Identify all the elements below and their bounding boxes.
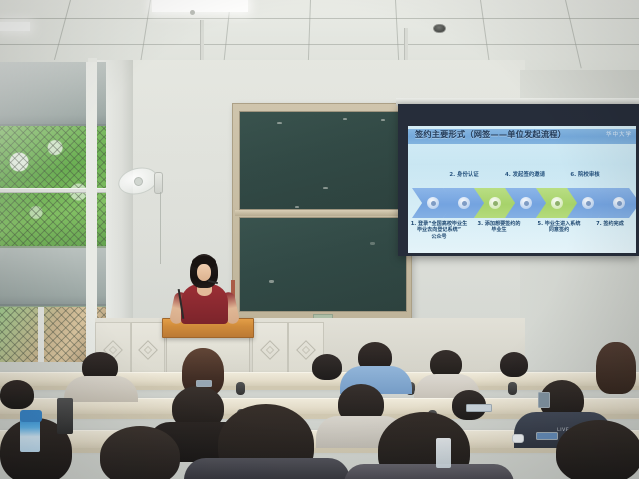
slide-step-label-3: 3. 添加想要签约的 毕业生 — [470, 221, 528, 234]
smartphone[interactable] — [466, 404, 492, 412]
thermos-bottle[interactable] — [57, 398, 73, 434]
thermos-bottle[interactable] — [20, 410, 42, 422]
slide-label-line: 同意签约 — [530, 227, 588, 233]
wall-panel — [252, 322, 288, 378]
chalkboard-divider-ledge — [235, 210, 411, 216]
slide-step-label-5: 5. 毕业生进入系统 同意签约 — [530, 221, 588, 234]
panel-diamond-motif — [138, 340, 158, 360]
ceiling-light-panel — [152, 0, 248, 12]
desk-seat-knob — [508, 382, 517, 395]
student-head-foreground — [100, 426, 180, 479]
water-bottle[interactable] — [436, 438, 451, 468]
chevron-circle-icon — [489, 197, 501, 209]
fan-power-cord — [160, 192, 161, 264]
window-mullion-vertical — [38, 307, 44, 362]
student-head — [500, 352, 528, 377]
chalkboard-panel-bottom — [239, 217, 407, 312]
projection-screen: 签约主要形式（网签——单位发起流程） 华中大学 2. 身份认证 4. 发起签约邀… — [398, 104, 639, 256]
chevron-circle-icon — [520, 197, 532, 209]
slide-title: 签约主要形式（网签——单位发起流程） — [415, 128, 566, 140]
student-head-long-hair — [596, 342, 636, 394]
slide-label-line: 公众号 — [410, 234, 468, 240]
student-head-foreground — [556, 420, 639, 479]
smoke-detector-icon — [433, 24, 446, 33]
lecture-desk-edge — [0, 448, 639, 453]
slide-step-label-2: 2. 身份认证 — [438, 170, 490, 178]
student-head — [0, 380, 34, 409]
slide-step-label-7: 7. 签约完成 — [586, 221, 634, 227]
chevron-circle-icon — [613, 197, 625, 209]
earbud-case[interactable] — [512, 434, 524, 443]
presenter-face — [197, 264, 211, 281]
panel-diamond-motif — [260, 340, 280, 360]
slide-process-chevrons — [412, 188, 632, 218]
slide-label-line: 毕业去向登记系统” — [410, 227, 468, 233]
sprinkler-icon — [190, 10, 195, 15]
smartphone[interactable] — [538, 392, 550, 408]
chevron-circle-icon — [458, 197, 470, 209]
smartphone[interactable] — [536, 432, 558, 440]
desk-seat-knob — [236, 382, 245, 395]
ceiling-light-panel — [0, 22, 30, 31]
slide-step-label-6: 6. 院校审核 — [560, 170, 610, 178]
lecture-hall-photo: 签约主要形式（网签——单位发起流程） 华中大学 2. 身份认证 4. 发起签约邀… — [0, 0, 639, 479]
panel-diamond-motif — [296, 340, 316, 360]
student-body — [64, 376, 138, 402]
slide-label-line: 7. 签约完成 — [586, 221, 634, 227]
chalkboard — [232, 103, 412, 321]
chevron-circle-icon — [427, 197, 439, 209]
wall-fan[interactable] — [118, 168, 162, 198]
fan-mount-bracket — [154, 172, 163, 194]
slide-step-label-1: 1. 登录“全国高校毕业生 毕业去向登记系统” 公众号 — [410, 221, 468, 240]
chevron-circle-icon — [582, 197, 594, 209]
slide-step-label-4: 4. 发起签约邀请 — [496, 170, 554, 178]
student-body-foreground — [344, 464, 514, 479]
slide-university-logo: 华中大学 — [606, 130, 632, 138]
student-head — [312, 354, 342, 380]
smartphone[interactable] — [196, 380, 212, 387]
presentation-slide: 签约主要形式（网签——单位发起流程） 华中大学 2. 身份认证 4. 发起签约邀… — [408, 126, 636, 253]
chevron-circle-icon — [551, 197, 563, 209]
chalkboard-panel-top — [239, 111, 407, 210]
fan-hub — [134, 177, 143, 186]
water-bottle[interactable] — [20, 418, 40, 452]
wall-panel — [131, 322, 165, 378]
student-body-foreground — [184, 458, 350, 479]
slide-label-line: 毕业生 — [470, 227, 528, 233]
